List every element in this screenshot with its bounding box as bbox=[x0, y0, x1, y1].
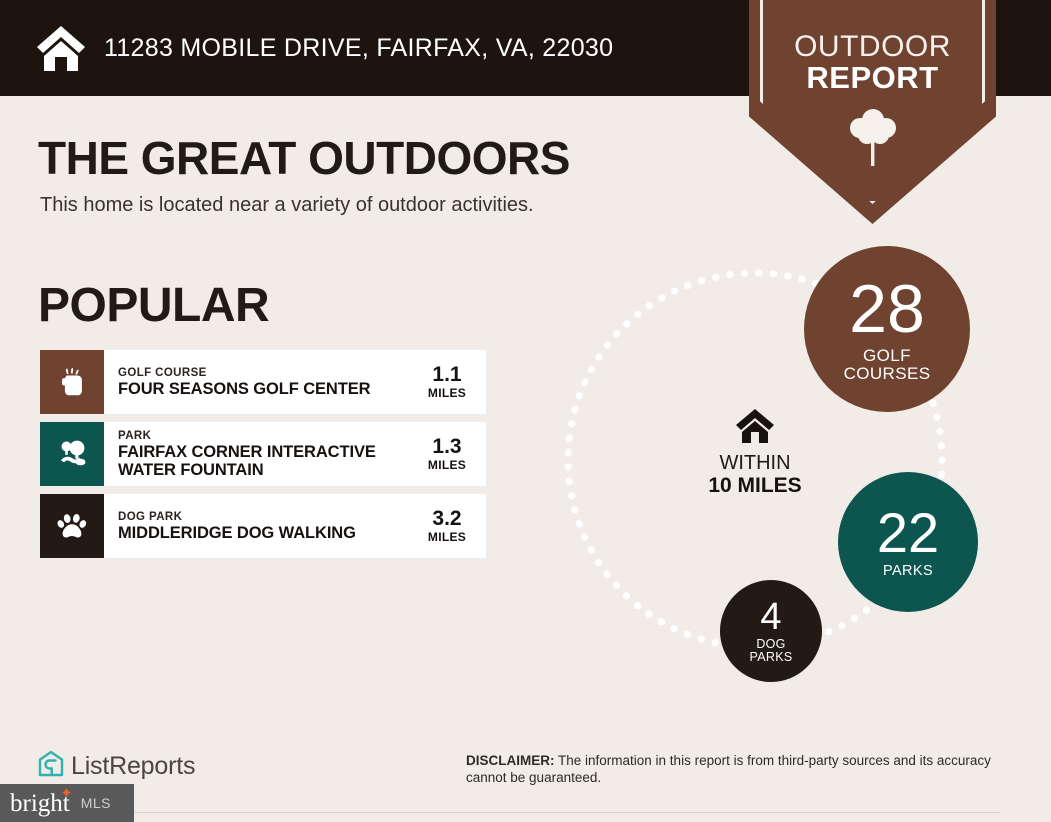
list-item-category: PARK bbox=[118, 429, 416, 443]
house-icon bbox=[735, 408, 775, 444]
list-item-distance: 1.1 MILES bbox=[416, 350, 486, 414]
distance-unit: MILES bbox=[428, 458, 466, 472]
bubble-value: 28 bbox=[849, 275, 925, 343]
golf-bag-icon bbox=[40, 350, 104, 414]
paw-print-icon bbox=[40, 494, 104, 558]
bubble-dog-parks[interactable]: 4 DOG PARKS bbox=[720, 580, 822, 682]
distance-value: 1.3 bbox=[432, 436, 461, 458]
bubble-value: 4 bbox=[760, 598, 781, 636]
list-item-category: GOLF COURSE bbox=[118, 366, 416, 380]
spark-icon: ✦ bbox=[60, 787, 73, 802]
list-item-name: FOUR SEASONS GOLF CENTER bbox=[118, 380, 416, 398]
page-title: THE GREAT OUTDOORS bbox=[38, 131, 570, 185]
bubble-label-line2: PARKS bbox=[750, 651, 793, 664]
list-item-text: PARK FAIRFAX CORNER INTERACTIVE WATER FO… bbox=[104, 422, 416, 486]
list-item-name: MIDDLERIDGE DOG WALKING bbox=[118, 524, 416, 542]
list-item[interactable]: PARK FAIRFAX CORNER INTERACTIVE WATER FO… bbox=[40, 422, 486, 486]
list-item-distance: 1.3 MILES bbox=[416, 422, 486, 486]
outdoor-report-page: 11283 MOBILE DRIVE, FAIRFAX, VA, 22030 O… bbox=[0, 0, 1051, 822]
listreports-house-icon bbox=[38, 750, 64, 783]
within-label: WITHIN bbox=[690, 452, 820, 474]
popular-list: GOLF COURSE FOUR SEASONS GOLF CENTER 1.1… bbox=[40, 350, 486, 566]
park-trees-icon bbox=[40, 422, 104, 486]
distance-value: 3.2 bbox=[432, 508, 461, 530]
distance-value: 1.1 bbox=[432, 364, 461, 386]
listreports-wordmark: ListReports bbox=[71, 752, 195, 781]
outdoor-report-badge: OUTDOOR REPORT bbox=[749, 0, 996, 224]
watermark-brand: bright ✦ bbox=[10, 791, 70, 816]
disclaimer-label: DISCLAIMER: bbox=[466, 753, 555, 768]
watermark-suffix: MLS bbox=[81, 795, 111, 811]
amenities-bubble-chart: 28 GOLF COURSES 22 PARKS 4 DOG PARKS WIT… bbox=[540, 240, 1040, 700]
radius-center-label: WITHIN 10 MILES bbox=[690, 408, 820, 498]
list-item-category: DOG PARK bbox=[118, 510, 416, 524]
miles-label: 10 MILES bbox=[690, 474, 820, 498]
distance-unit: MILES bbox=[428, 386, 466, 400]
bubble-parks[interactable]: 22 PARKS bbox=[838, 472, 978, 612]
bubble-golf-courses[interactable]: 28 GOLF COURSES bbox=[804, 246, 970, 412]
bubble-label-line1: GOLF bbox=[863, 347, 911, 365]
bubble-label-line2: COURSES bbox=[844, 365, 931, 383]
bubble-label-line1: PARKS bbox=[883, 564, 933, 579]
page-subtitle: This home is located near a variety of o… bbox=[40, 194, 534, 217]
property-address: 11283 MOBILE DRIVE, FAIRFAX, VA, 22030 bbox=[104, 34, 613, 63]
bubble-value: 22 bbox=[877, 505, 939, 561]
badge-title-line2: REPORT bbox=[749, 60, 996, 96]
badge-title-line1: OUTDOOR bbox=[749, 30, 996, 64]
footer-divider bbox=[100, 812, 1000, 813]
list-item[interactable]: DOG PARK MIDDLERIDGE DOG WALKING 3.2 MIL… bbox=[40, 494, 486, 558]
list-item-distance: 3.2 MILES bbox=[416, 494, 486, 558]
tree-icon bbox=[847, 106, 899, 168]
distance-unit: MILES bbox=[428, 530, 466, 544]
bright-mls-watermark: bright ✦ MLS bbox=[0, 784, 134, 822]
disclaimer: DISCLAIMER: The information in this repo… bbox=[466, 752, 1011, 786]
list-item[interactable]: GOLF COURSE FOUR SEASONS GOLF CENTER 1.1… bbox=[40, 350, 486, 414]
list-item-text: GOLF COURSE FOUR SEASONS GOLF CENTER bbox=[104, 350, 416, 414]
section-heading-popular: POPULAR bbox=[38, 278, 269, 333]
list-item-name: FAIRFAX CORNER INTERACTIVE WATER FOUNTAI… bbox=[118, 443, 416, 479]
listreports-logo[interactable]: ListReports bbox=[38, 750, 195, 783]
list-item-text: DOG PARK MIDDLERIDGE DOG WALKING bbox=[104, 494, 416, 558]
house-icon bbox=[36, 24, 86, 72]
